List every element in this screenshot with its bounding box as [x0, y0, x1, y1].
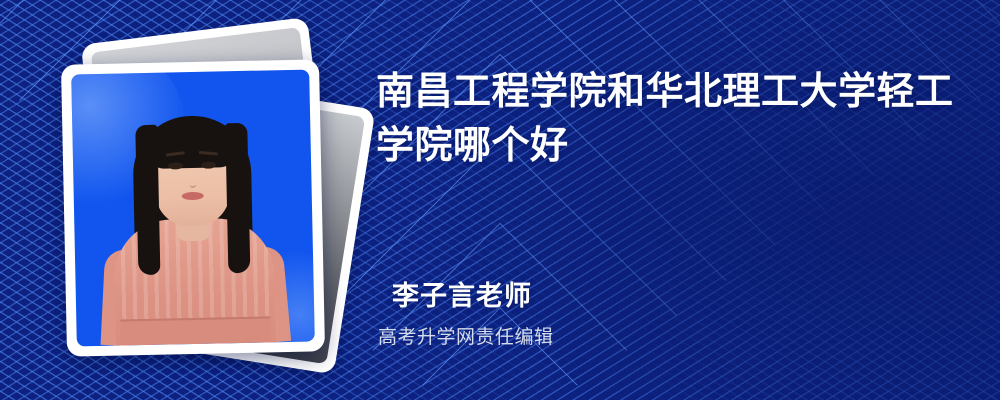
portrait-photo-card: [61, 59, 325, 356]
dress-waistband: [120, 316, 271, 345]
eye-left: [168, 162, 183, 169]
hair-front-shape: [148, 119, 235, 169]
article-header-banner: 南昌工程学院和华北理工大学轻工学院哪个好 李子言老师 高考升学网责任编辑: [0, 0, 1000, 400]
eye-right: [201, 161, 216, 168]
author-byline: 李子言老师 高考升学网责任编辑: [392, 274, 952, 349]
headline-block: 南昌工程学院和华北理工大学轻工学院哪个好: [376, 66, 966, 174]
photo-card-stack: [58, 26, 358, 356]
author-name: 李子言老师: [392, 274, 952, 313]
nose-shape: [189, 178, 196, 188]
portrait-photo: [71, 70, 315, 347]
author-role: 高考升学网责任编辑: [378, 322, 952, 349]
article-title: 南昌工程学院和华北理工大学轻工学院哪个好: [376, 66, 966, 174]
hair-side-left: [135, 124, 160, 274]
portrait-figure: [71, 70, 315, 347]
hair-side-right: [225, 123, 250, 273]
mouth-shape: [182, 191, 204, 199]
